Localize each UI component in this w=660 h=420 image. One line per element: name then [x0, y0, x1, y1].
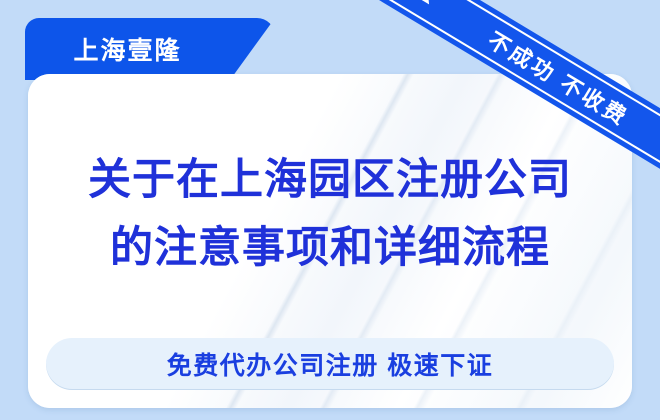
card-content: 关于在上海园区注册公司 的注意事项和详细流程 免费代办公司注册 极速下证 — [28, 74, 632, 408]
promo-banner: 上海壹隆 关于在上海园区注册公司 的注意事项和详细流程 免费代办公司注册 极速下… — [0, 0, 660, 420]
headline-line-1: 关于在上海园区注册公司 — [28, 146, 632, 214]
service-cta-label: 免费代办公司注册 极速下证 — [167, 346, 493, 382]
company-tab: 上海壹隆 — [25, 18, 275, 80]
service-cta-bar[interactable]: 免费代办公司注册 极速下证 — [46, 338, 614, 390]
company-tab-label: 上海壹隆 — [25, 18, 230, 80]
headline-line-2: 的注意事项和详细流程 — [28, 214, 632, 282]
content-card: 关于在上海园区注册公司 的注意事项和详细流程 免费代办公司注册 极速下证 — [28, 74, 632, 408]
triangle-up-icon — [419, 0, 433, 4]
headline: 关于在上海园区注册公司 的注意事项和详细流程 — [28, 146, 632, 282]
